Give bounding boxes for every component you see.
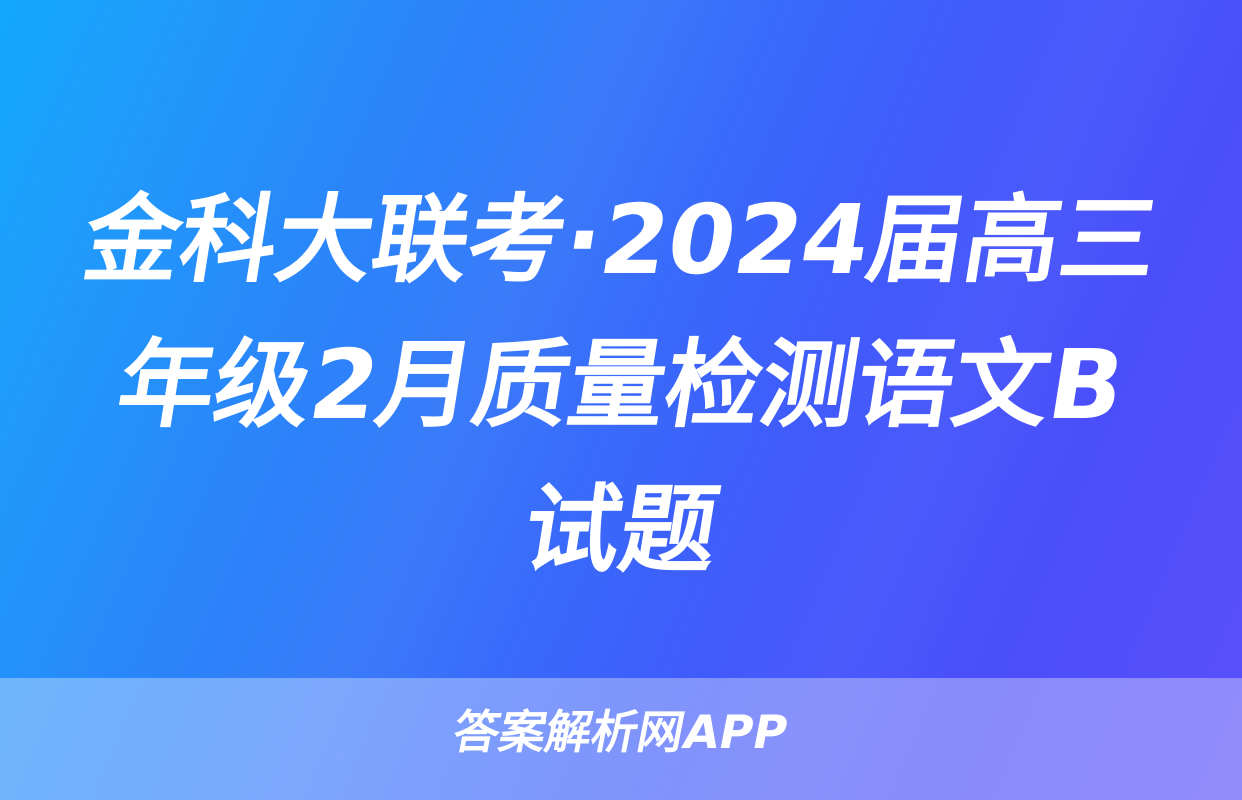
page-title: 金科大联考·2024届高三 年级2月质量检测语文B 试题 [0,168,1242,603]
poster-canvas: 金科大联考·2024届高三 年级2月质量检测语文B 试题 答案解析网APP [0,0,1242,800]
watermark-label: 答案解析网APP [449,702,794,762]
title-line-1: 金科大联考·2024届高三 [55,168,1188,313]
watermark: 答案解析网APP [0,702,1242,762]
title-line-2: 年级2月质量检测语文B [55,313,1188,458]
title-line-3: 试题 [55,458,1188,603]
